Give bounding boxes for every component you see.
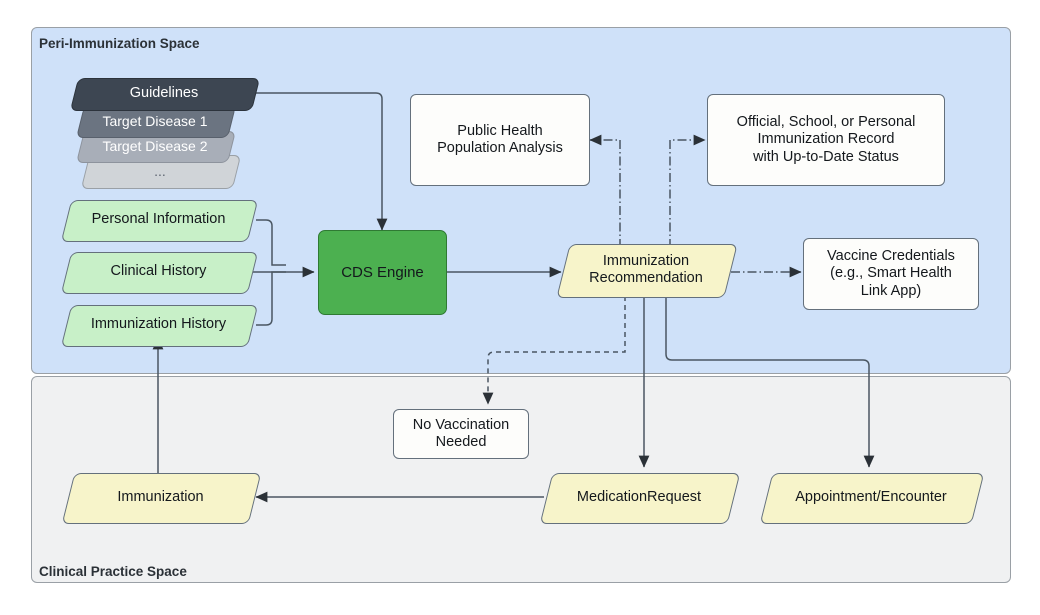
vaccine-credentials-label: Vaccine Credentials (e.g., Smart Health …	[827, 248, 955, 300]
immunization-label: Immunization	[68, 473, 253, 522]
node-no-vaccination-needed[interactable]: No Vaccination Needed	[393, 409, 529, 459]
medication-request-label: MedicationRequest	[546, 473, 732, 522]
no-vaccination-needed-label: No Vaccination Needed	[413, 417, 509, 452]
node-immunization-record[interactable]: Official, School, or Personal Immunizati…	[707, 94, 945, 186]
node-public-health-population-analysis[interactable]: Public Health Population Analysis	[410, 94, 590, 186]
node-guidelines[interactable]: Guidelines	[74, 78, 254, 109]
public-health-population-analysis-label: Public Health Population Analysis	[437, 123, 563, 158]
cds-engine-label: CDS Engine	[341, 264, 424, 282]
edge-immunization-history-to-cds-engine	[256, 272, 286, 325]
edge-immunization-recommendation-to-no-vaccination-needed	[488, 296, 625, 404]
node-immunization-recommendation[interactable]: Immunization Recommendation	[563, 244, 729, 296]
personal-information-label: Personal Information	[66, 200, 251, 240]
edge-personal-information-to-cds-engine	[256, 220, 286, 265]
edge-immunization-recommendation-to-public-health-population-analysis	[590, 140, 620, 248]
immunization-record-label: Official, School, or Personal Immunizati…	[737, 114, 916, 166]
appointment-encounter-label: Appointment/Encounter	[766, 473, 976, 522]
node-clinical-history[interactable]: Clinical History	[66, 252, 251, 292]
node-immunization-history[interactable]: Immunization History	[66, 305, 251, 345]
node-medication-request[interactable]: MedicationRequest	[546, 473, 732, 522]
immunization-recommendation-label: Immunization Recommendation	[563, 244, 729, 296]
node-cds-engine[interactable]: CDS Engine	[318, 230, 447, 315]
node-vaccine-credentials[interactable]: Vaccine Credentials (e.g., Smart Health …	[803, 238, 979, 310]
edge-immunization-recommendation-to-immunization-record	[670, 140, 705, 248]
diagram-canvas: Peri-Immunization Space Clinical Practic…	[0, 0, 1040, 615]
guidelines-label: Guidelines	[74, 78, 254, 109]
node-personal-information[interactable]: Personal Information	[66, 200, 251, 240]
node-immunization[interactable]: Immunization	[68, 473, 253, 522]
edge-guidelines-to-cds-engine	[252, 93, 382, 230]
clinical-history-label: Clinical History	[66, 252, 251, 292]
node-appointment-encounter[interactable]: Appointment/Encounter	[766, 473, 976, 522]
edge-immunization-recommendation-to-appointment-encounter	[666, 296, 869, 467]
immunization-history-label: Immunization History	[66, 305, 251, 345]
